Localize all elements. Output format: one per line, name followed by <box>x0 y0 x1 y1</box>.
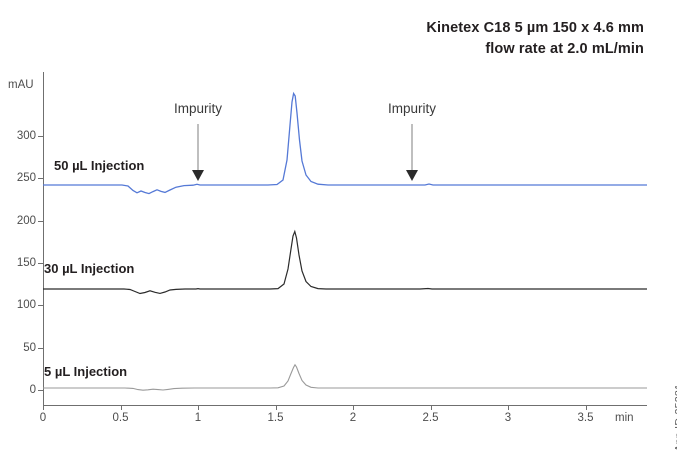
impurity-arrow-2-head <box>406 170 418 181</box>
chromatogram-figure: Kinetex C18 5 µm 150 x 4.6 mm flow rate … <box>0 0 677 456</box>
app-id-label: App ID 25281 <box>673 384 677 452</box>
impurity-arrow-2-group <box>0 0 677 456</box>
